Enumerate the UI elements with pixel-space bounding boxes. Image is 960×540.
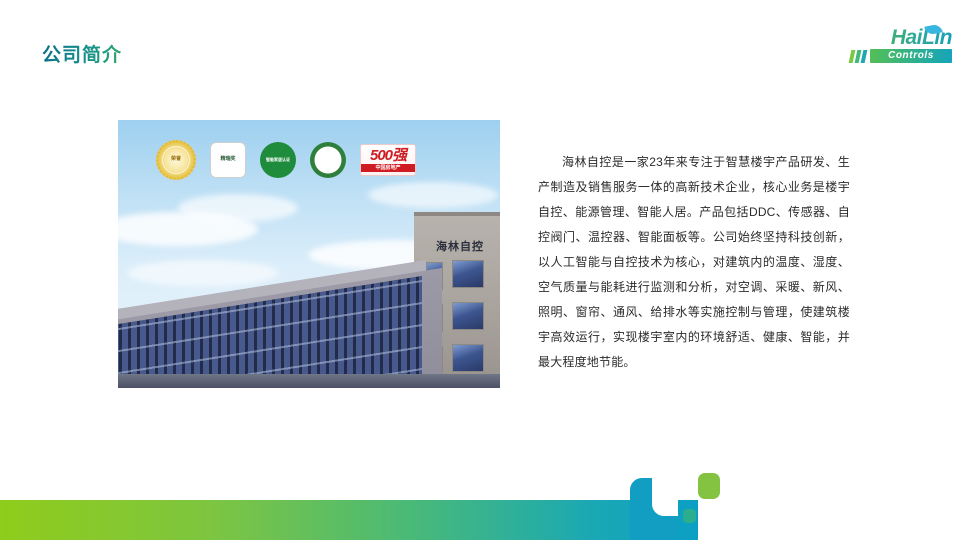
brand-logo: HaiLin Controls: [836, 26, 952, 70]
building-sign-text: 海林自控: [436, 238, 484, 254]
page-title: 公司简介: [42, 40, 122, 67]
badge-white-cert: 精瑞奖: [210, 142, 246, 178]
cloud-shape: [368, 182, 498, 208]
badge-500-strong: 500强 中国房地产: [360, 144, 416, 176]
badge-eco-green: 绿色环保认证: [310, 142, 346, 178]
bars-icon: [850, 50, 866, 63]
slide-root: 公司简介 HaiLin Controls 荣誉 精瑞奖: [0, 0, 960, 540]
badge-green-home: 智能家居认证: [260, 142, 296, 178]
decor-square-teal: [683, 509, 696, 523]
decor-square-green: [698, 473, 720, 499]
company-description-paragraph: 海林自控是一家23年来专注于智慧楼宇产品研发、生产制造及销售服务一体的高新技术企…: [538, 150, 850, 375]
ground-strip: [118, 374, 500, 388]
certification-badges: 荣誉 精瑞奖 智能家居认证 绿色环保认证 500强 中国房地产: [156, 140, 416, 180]
badge-gold-award: 荣誉: [156, 140, 196, 180]
footer-gradient-bar: [0, 500, 698, 540]
decor-shape-notch: [652, 476, 678, 516]
logo-subtitle-bar: Controls: [850, 49, 952, 63]
cloud-shape: [178, 194, 298, 222]
cloud-shape: [128, 260, 278, 286]
company-building-photo: 荣誉 精瑞奖 智能家居认证 绿色环保认证 500强 中国房地产: [118, 120, 500, 388]
logo-subtitle: Controls: [870, 49, 952, 63]
